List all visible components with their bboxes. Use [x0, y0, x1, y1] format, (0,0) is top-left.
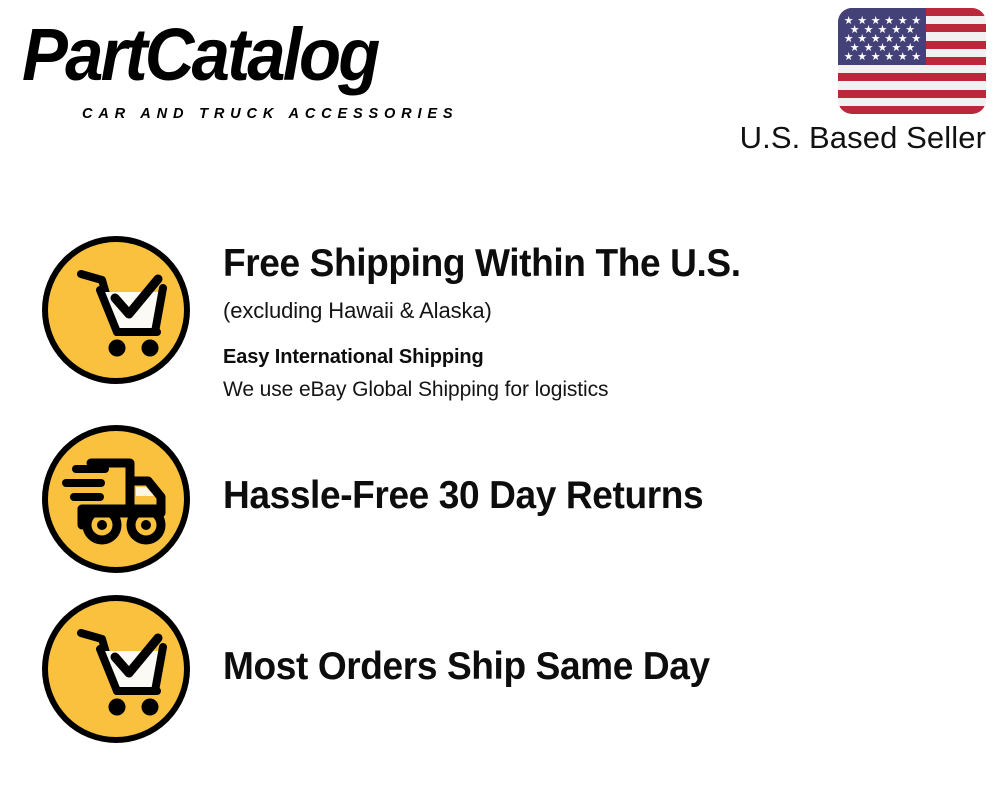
star-icon [892, 25, 901, 34]
star-row [844, 34, 921, 43]
star-icon [885, 34, 894, 43]
star-icon [858, 34, 867, 43]
flag-stars [838, 8, 926, 65]
star-icon [898, 52, 907, 61]
feature-note: (excluding Hawaii & Alaska) [223, 296, 1000, 326]
star-icon [912, 16, 921, 25]
star-icon [885, 16, 894, 25]
flag-stripe [838, 73, 986, 81]
feature-text: Free Shipping Within The U.S. (excluding… [223, 236, 1000, 404]
star-icon [844, 52, 853, 61]
feature-text: Most Orders Ship Same Day [223, 595, 1000, 690]
star-row [844, 16, 921, 25]
star-row [844, 52, 921, 61]
delivery-truck-icon [42, 425, 190, 573]
brand-wordmark: PartCatalog [22, 18, 378, 92]
star-icon [850, 25, 859, 34]
star-icon [858, 16, 867, 25]
star-row [844, 25, 921, 34]
flag-stripe [838, 65, 986, 73]
partcatalog-logo[interactable]: PartCatalog CAR AND TRUCK ACCESSORIES [22, 18, 492, 118]
star-icon [864, 25, 873, 34]
feature-heading: Hassle-Free 30 Day Returns [223, 473, 961, 519]
star-icon [912, 52, 921, 61]
feature-row: Free Shipping Within The U.S. (excluding… [0, 236, 1000, 404]
star-icon [906, 25, 915, 34]
star-icon [878, 43, 887, 52]
star-icon [871, 16, 880, 25]
flag-stripe [838, 106, 986, 114]
seller-label: U.S. Based Seller [740, 118, 986, 158]
shopping-cart-check-icon [42, 236, 190, 384]
star-icon [898, 16, 907, 25]
star-row [844, 43, 921, 52]
star-icon [858, 52, 867, 61]
feature-row: Hassle-Free 30 Day Returns [0, 425, 1000, 573]
brand-tagline: CAR AND TRUCK ACCESSORIES [82, 106, 458, 122]
shopping-cart-check-icon [42, 595, 190, 743]
flag-stripe [838, 98, 986, 106]
star-icon [864, 43, 873, 52]
feature-heading: Free Shipping Within The U.S. [223, 241, 961, 287]
feature-row: Most Orders Ship Same Day [0, 595, 1000, 743]
flag-canton [838, 8, 926, 65]
star-icon [898, 34, 907, 43]
feature-heading: Most Orders Ship Same Day [223, 644, 961, 690]
star-icon [885, 52, 894, 61]
flag-stripe [838, 90, 986, 98]
us-flag-icon [838, 8, 986, 114]
star-icon [871, 52, 880, 61]
star-icon [850, 43, 859, 52]
star-icon [878, 25, 887, 34]
us-based-seller-badge: U.S. Based Seller [716, 6, 986, 166]
star-icon [844, 34, 853, 43]
feature-text: Hassle-Free 30 Day Returns [223, 425, 1000, 519]
star-icon [871, 34, 880, 43]
feature-subnote: We use eBay Global Shipping for logistic… [223, 375, 1000, 404]
feature-subheading: Easy International Shipping [223, 343, 1000, 371]
star-icon [906, 43, 915, 52]
star-icon [912, 34, 921, 43]
star-icon [844, 16, 853, 25]
page-header: PartCatalog CAR AND TRUCK ACCESSORIES [0, 0, 1000, 175]
flag-stripe [838, 81, 986, 89]
star-icon [892, 43, 901, 52]
